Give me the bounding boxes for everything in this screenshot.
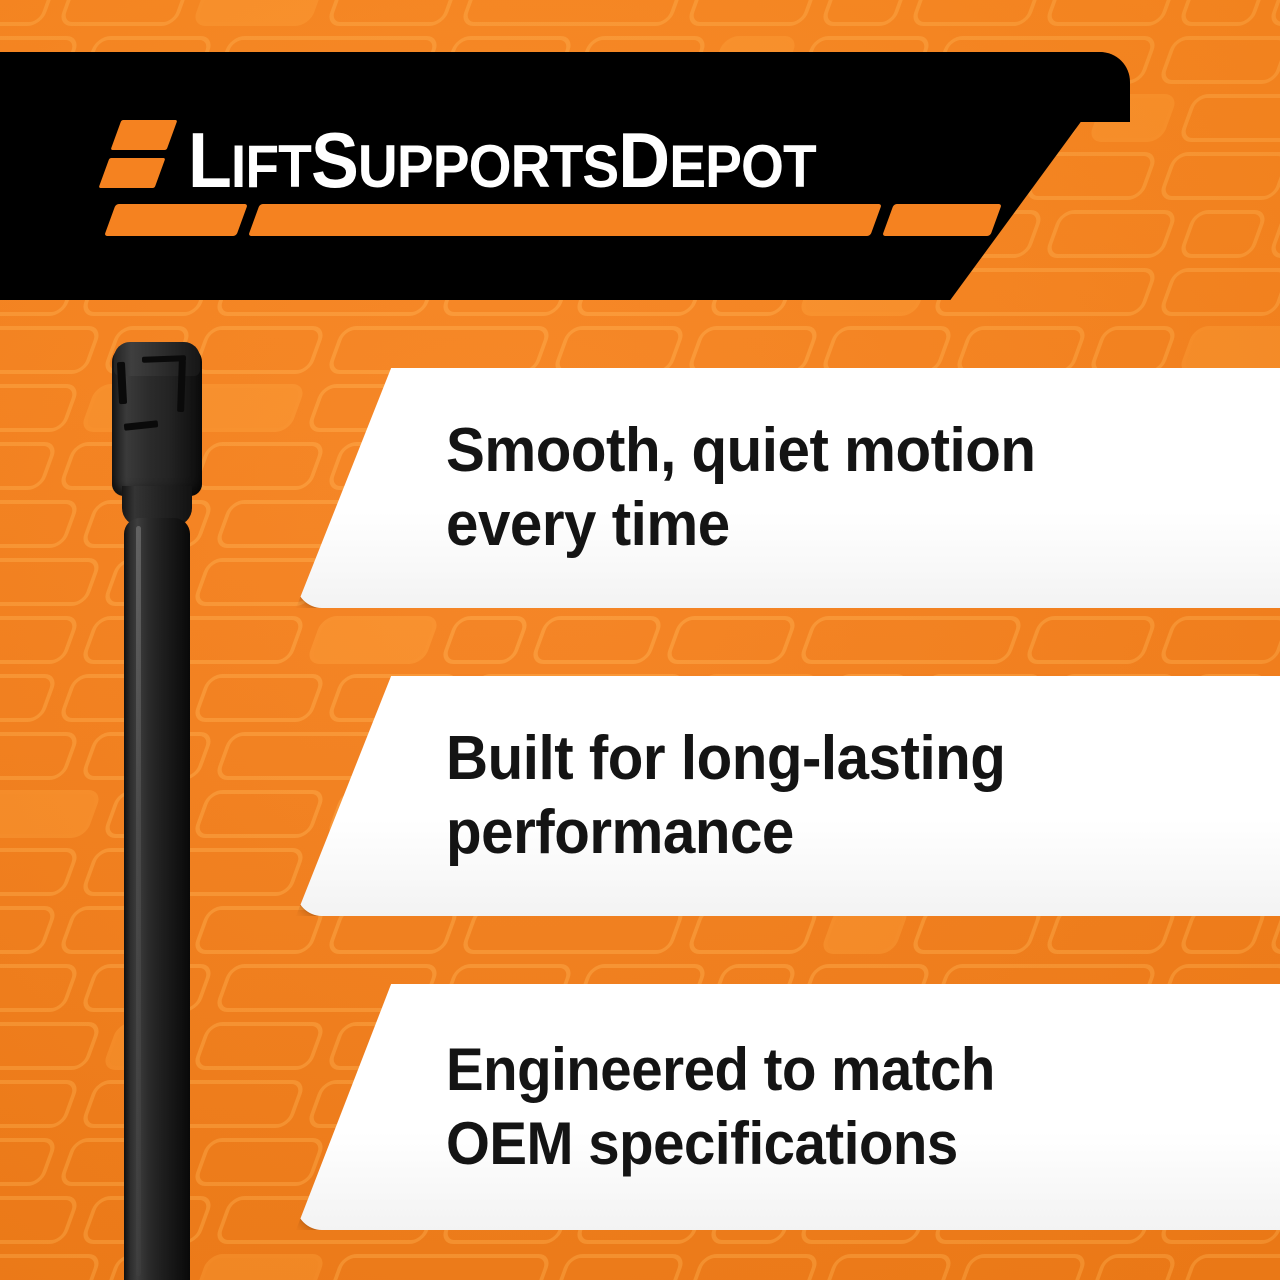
feature-card-smooth-motion: Smooth, quiet motion every time xyxy=(296,368,1280,608)
feature-card-oem-spec: Engineered to match OEM specifications xyxy=(296,984,1280,1230)
feature-card-text: Engineered to match OEM specifications xyxy=(446,1033,995,1181)
product-feature-graphic: LIFTSUPPORTSDEPOT Smooth, quiet motion e… xyxy=(0,0,1280,1280)
feature-card-list: Smooth, quiet motion every time Built fo… xyxy=(0,0,1280,1280)
feature-card-text: Built for long-lasting performance xyxy=(446,722,1005,870)
feature-card-long-lasting: Built for long-lasting performance xyxy=(296,676,1280,916)
feature-card-line: every time xyxy=(446,488,1036,562)
feature-card-line: Engineered to match xyxy=(446,1033,995,1107)
feature-card-line: OEM specifications xyxy=(446,1107,995,1181)
feature-card-line: performance xyxy=(446,796,1005,870)
feature-card-text: Smooth, quiet motion every time xyxy=(446,414,1036,562)
feature-card-line: Built for long-lasting xyxy=(446,722,1005,796)
feature-card-line: Smooth, quiet motion xyxy=(446,414,1036,488)
